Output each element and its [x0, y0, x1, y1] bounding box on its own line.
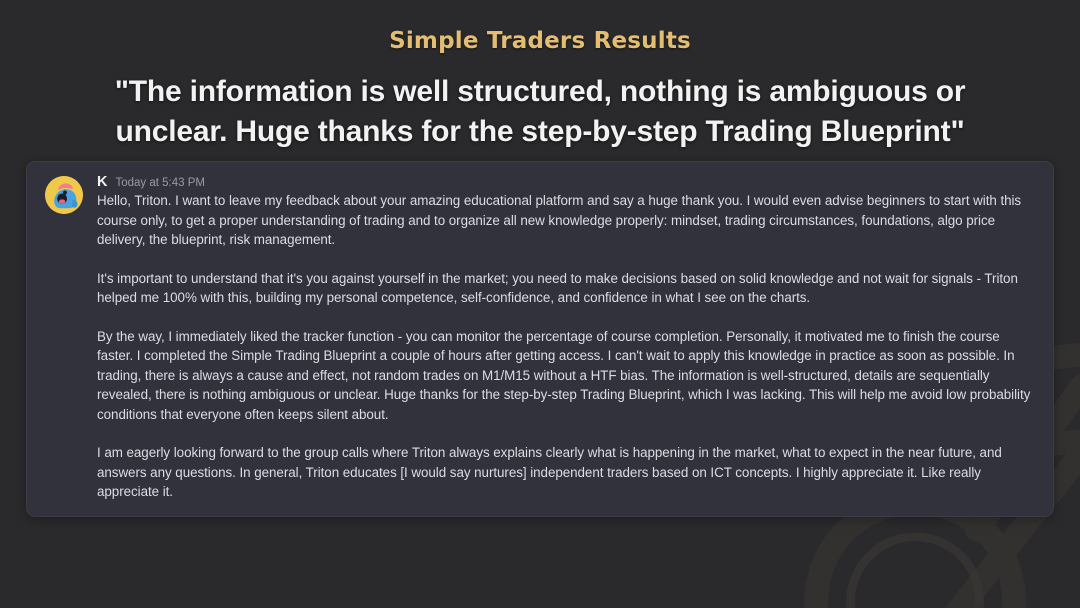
cartoon-avatar-icon: [45, 176, 83, 214]
message-timestamp: Today at 5:43 PM: [115, 177, 205, 189]
message-row: K Today at 5:43 PM Hello, Triton. I want…: [41, 174, 1039, 502]
message-paragraph: Hello, Triton. I want to leave my feedba…: [97, 191, 1039, 250]
page-headline: "The information is well structured, not…: [100, 72, 980, 151]
testimonial-page: Simple Traders Results "The information …: [0, 0, 1080, 608]
message-paragraph: By the way, I immediately liked the trac…: [97, 327, 1039, 425]
message-header: K Today at 5:43 PM: [97, 174, 1039, 190]
message-author-name[interactable]: K: [97, 174, 107, 190]
headline-line-1: "The information is well structured, not…: [100, 72, 980, 112]
message-paragraph: It's important to understand that it's y…: [97, 269, 1039, 308]
headline-line-2: unclear. Huge thanks for the step-by-ste…: [100, 112, 980, 152]
avatar[interactable]: [45, 176, 83, 214]
message-paragraph: I am eagerly looking forward to the grou…: [97, 443, 1039, 502]
page-eyebrow-title: Simple Traders Results: [0, 0, 1080, 54]
testimonial-message-card: K Today at 5:43 PM Hello, Triton. I want…: [26, 161, 1054, 517]
message-body: K Today at 5:43 PM Hello, Triton. I want…: [97, 174, 1039, 502]
